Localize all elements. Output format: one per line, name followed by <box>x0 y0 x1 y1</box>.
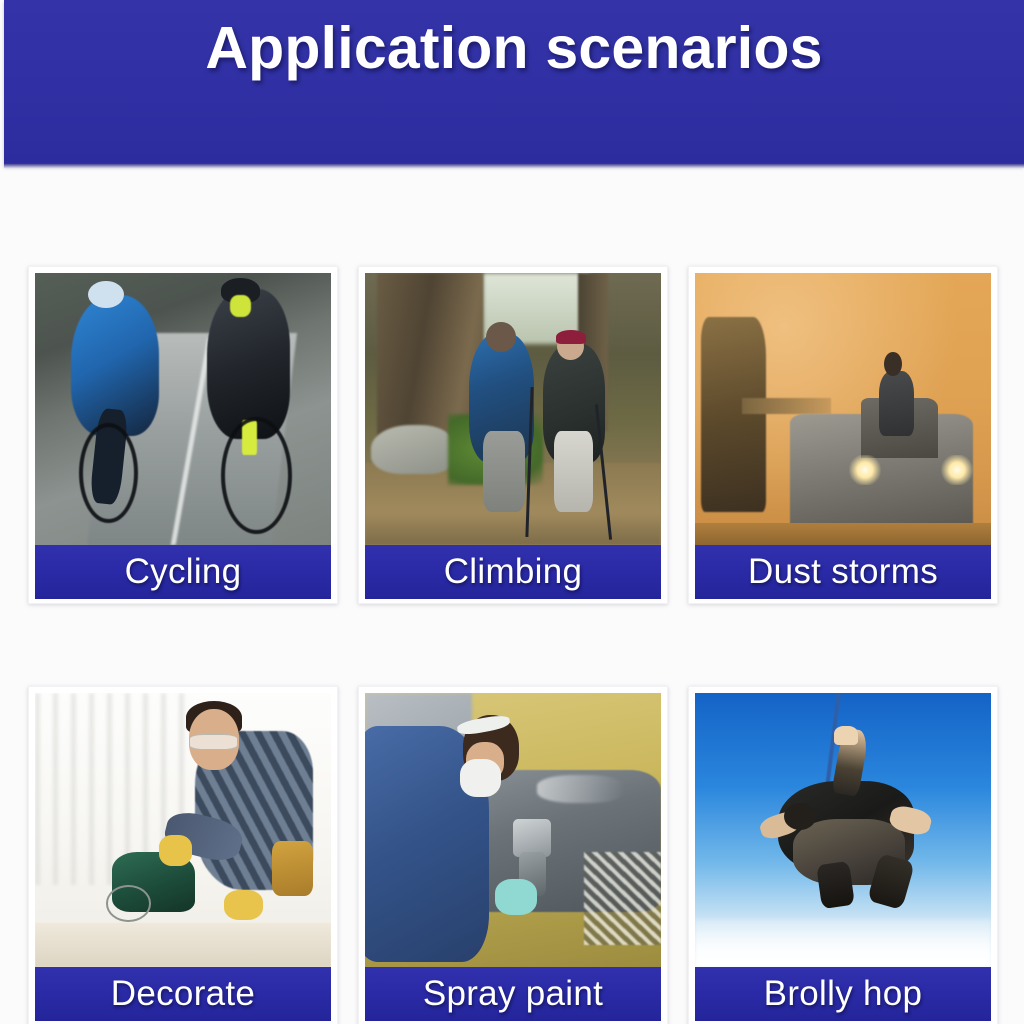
scenario-label-bar-cycling: Cycling <box>35 545 331 599</box>
cloud-horizon <box>695 918 991 967</box>
spray-paint-scene-illustration <box>365 693 661 967</box>
safety-glasses <box>189 734 238 750</box>
hi-vis-accent-upper <box>230 295 251 317</box>
scenario-photo-spray-paint <box>365 693 661 967</box>
respirator-mask <box>460 759 501 797</box>
hiker-dark-legs <box>554 431 592 513</box>
scenario-card-brolly-hop[interactable]: Brolly hop <box>688 686 998 1024</box>
application-scenarios-page: Application scenarios <box>0 0 1024 1024</box>
skydiver-raised-hand <box>834 726 858 745</box>
red-bandana <box>556 330 586 344</box>
car-highlight <box>537 775 626 802</box>
background-rig-structure <box>701 317 766 513</box>
scenario-card-cycling[interactable]: Cycling <box>28 266 338 604</box>
scenario-label-text: Cycling <box>125 552 242 592</box>
masking-material <box>584 852 661 945</box>
scenario-card-spray-paint[interactable]: Spray paint <box>358 686 668 1024</box>
decorate-scene-illustration <box>35 693 331 967</box>
scenario-photo-brolly-hop <box>695 693 991 967</box>
scenario-label-bar-dust-storms: Dust storms <box>695 545 991 599</box>
bicycle-wheel-right <box>221 417 291 534</box>
scenario-photo-decorate <box>35 693 331 967</box>
yellow-glove-left <box>159 835 192 865</box>
scenario-label-text: Climbing <box>444 552 583 592</box>
skydiver-helmet <box>784 803 817 830</box>
scenario-card-climbing[interactable]: Climbing <box>358 266 668 604</box>
scenario-label-bar-climbing: Climbing <box>365 545 661 599</box>
scenario-label-bar-decorate: Decorate <box>35 967 331 1021</box>
teal-glove <box>495 879 536 915</box>
tool-belt <box>272 841 313 896</box>
scenario-label-bar-spray-paint: Spray paint <box>365 967 661 1021</box>
cycling-scene-illustration <box>35 273 331 545</box>
scenario-label-text: Spray paint <box>423 974 603 1014</box>
climbing-scene-illustration <box>365 273 661 545</box>
cyclist-blue-helmet <box>88 281 124 308</box>
worker-silhouette <box>879 371 915 436</box>
scenario-card-dust-storms[interactable]: Dust storms <box>688 266 998 604</box>
dust-storm-scene-illustration <box>695 273 991 545</box>
scenario-photo-cycling <box>35 273 331 545</box>
saw-blade <box>106 885 151 922</box>
page-title: Application scenarios <box>4 14 1024 82</box>
scenario-label-text: Brolly hop <box>764 974 923 1014</box>
scenario-grid: Cycling <box>0 168 1024 1024</box>
scenario-label-text: Decorate <box>111 974 255 1014</box>
brolly-hop-scene-illustration <box>695 693 991 967</box>
scenario-card-decorate[interactable]: Decorate <box>28 686 338 1024</box>
header-banner: Application scenarios <box>4 0 1024 166</box>
work-surface <box>35 923 331 967</box>
bicycle-wheel-left <box>79 423 137 523</box>
vehicle-headlight-left <box>849 455 882 485</box>
scenario-photo-dust-storms <box>695 273 991 545</box>
scenario-photo-climbing <box>365 273 661 545</box>
vehicle-headlight-right <box>941 455 974 485</box>
scenario-label-bar-brolly-hop: Brolly hop <box>695 967 991 1021</box>
hiker-blue-legs <box>483 431 524 513</box>
hiker-blue-head <box>486 322 516 352</box>
yellow-glove-right <box>224 890 262 920</box>
scenario-label-text: Dust storms <box>748 552 938 592</box>
rock-boulder <box>371 425 454 474</box>
desert-ground <box>695 523 991 545</box>
rig-boom-arm <box>742 398 831 414</box>
skydiver-leg-left <box>816 861 854 909</box>
